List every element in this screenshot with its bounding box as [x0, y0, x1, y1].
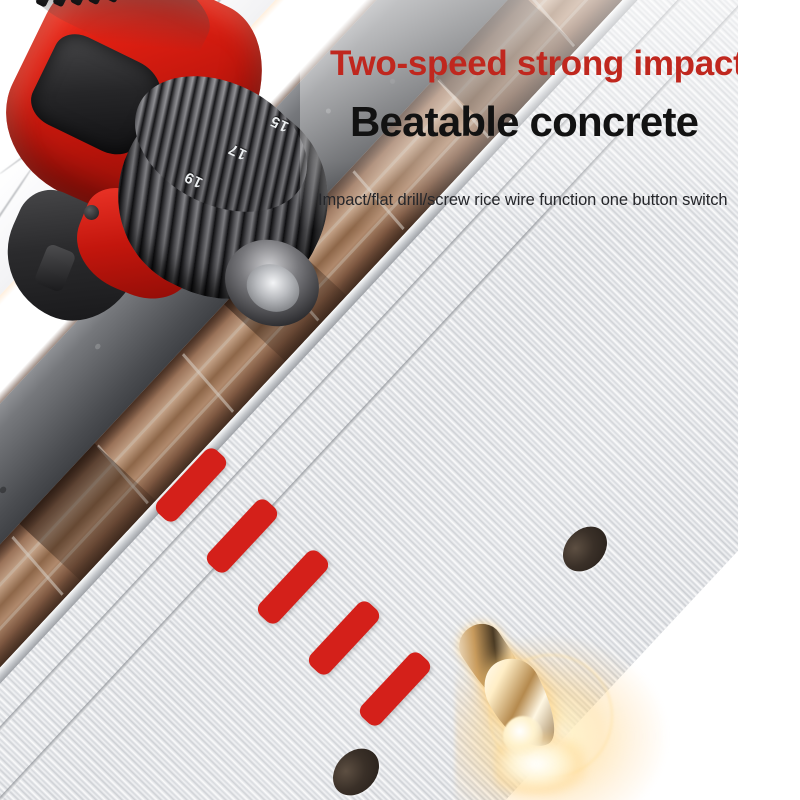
tagline-text: Impact/flat drill/screw rice wire functi… — [318, 191, 727, 210]
product-banner: 15 17 19 Two-speed strong impact Beatabl… — [0, 0, 800, 800]
subheadline-text: Beatable concrete — [350, 98, 698, 146]
drill-bit-spark — [455, 612, 685, 800]
drill-bit-tip — [503, 716, 543, 756]
cordless-impact-drill: 15 17 19 — [0, 0, 360, 385]
right-white-margin — [738, 0, 800, 800]
headline-text: Two-speed strong impact — [330, 44, 744, 84]
drill-screw — [84, 205, 99, 220]
